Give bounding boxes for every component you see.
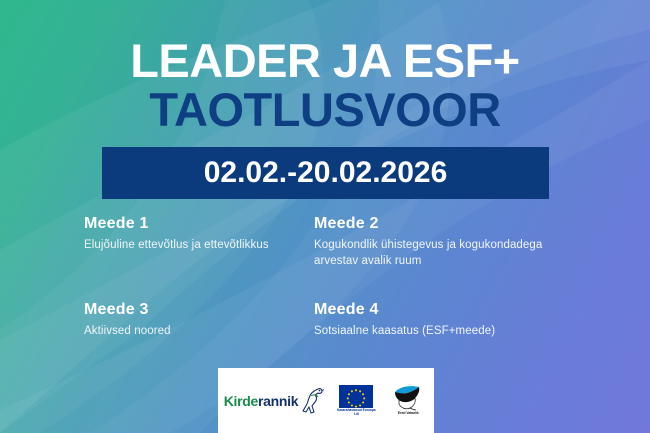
measure-title: Meede 2 <box>314 215 584 233</box>
eu-cofunded-logo: Kaasrahastanud Euroopa Liit <box>336 385 376 416</box>
date-range-box: 02.02.-20.02.2026 <box>102 147 549 199</box>
kirderannik-text-part1: Kirde <box>224 393 258 409</box>
eu-flag-icon <box>339 385 373 408</box>
measure-item-4: Meede 4 Sotsiaalne kaasatus (ESF+meede) <box>314 301 584 339</box>
kirderannik-text-part2: rannik <box>258 393 298 409</box>
promotional-banner: LEADER JA ESF+ TAOTLUSVOOR 02.02.-20.02.… <box>0 0 650 433</box>
measure-item-3: Meede 3 Aktiivsed noored <box>84 301 314 339</box>
date-range-text: 02.02.-20.02.2026 <box>204 156 448 190</box>
eu-logo-caption: Kaasrahastanud Euroopa Liit <box>336 409 376 416</box>
measure-title: Meede 3 <box>84 301 314 319</box>
estonia-logo-caption: Eesti Vabariik <box>388 412 428 416</box>
measure-item-1: Meede 1 Elujõuline ettevõtlus ja ettevõt… <box>84 215 314 269</box>
measure-description: Elujõuline ettevõtlus ja ettevõtlikkus <box>84 237 314 253</box>
measure-description: Kogukondlik ühistegevus ja kogukondadega… <box>314 237 584 269</box>
measure-title: Meede 1 <box>84 215 314 233</box>
measure-title: Meede 4 <box>314 301 584 319</box>
title-line-2: TAOTLUSVOOR <box>0 86 650 134</box>
banner-title-block: LEADER JA ESF+ TAOTLUSVOOR <box>0 36 650 134</box>
title-line-1: LEADER JA ESF+ <box>0 36 650 86</box>
measure-description: Sotsiaalne kaasatus (ESF+meede) <box>314 323 584 339</box>
measure-description: Aktiivsed noored <box>84 323 314 339</box>
logo-bar: Kirderannik <box>218 368 434 433</box>
kirderannik-logo: Kirderannik <box>224 386 325 416</box>
estonia-logo: Eesti Vabariik <box>388 385 428 416</box>
measures-grid: Meede 1 Elujõuline ettevõtlus ja ettevõt… <box>84 215 584 339</box>
measure-item-2: Meede 2 Kogukondlik ühistegevus ja koguk… <box>314 215 584 269</box>
barn-swallow-icon <box>391 385 425 411</box>
stork-bird-icon <box>298 386 324 416</box>
kirderannik-wordmark: Kirderannik <box>224 393 299 409</box>
